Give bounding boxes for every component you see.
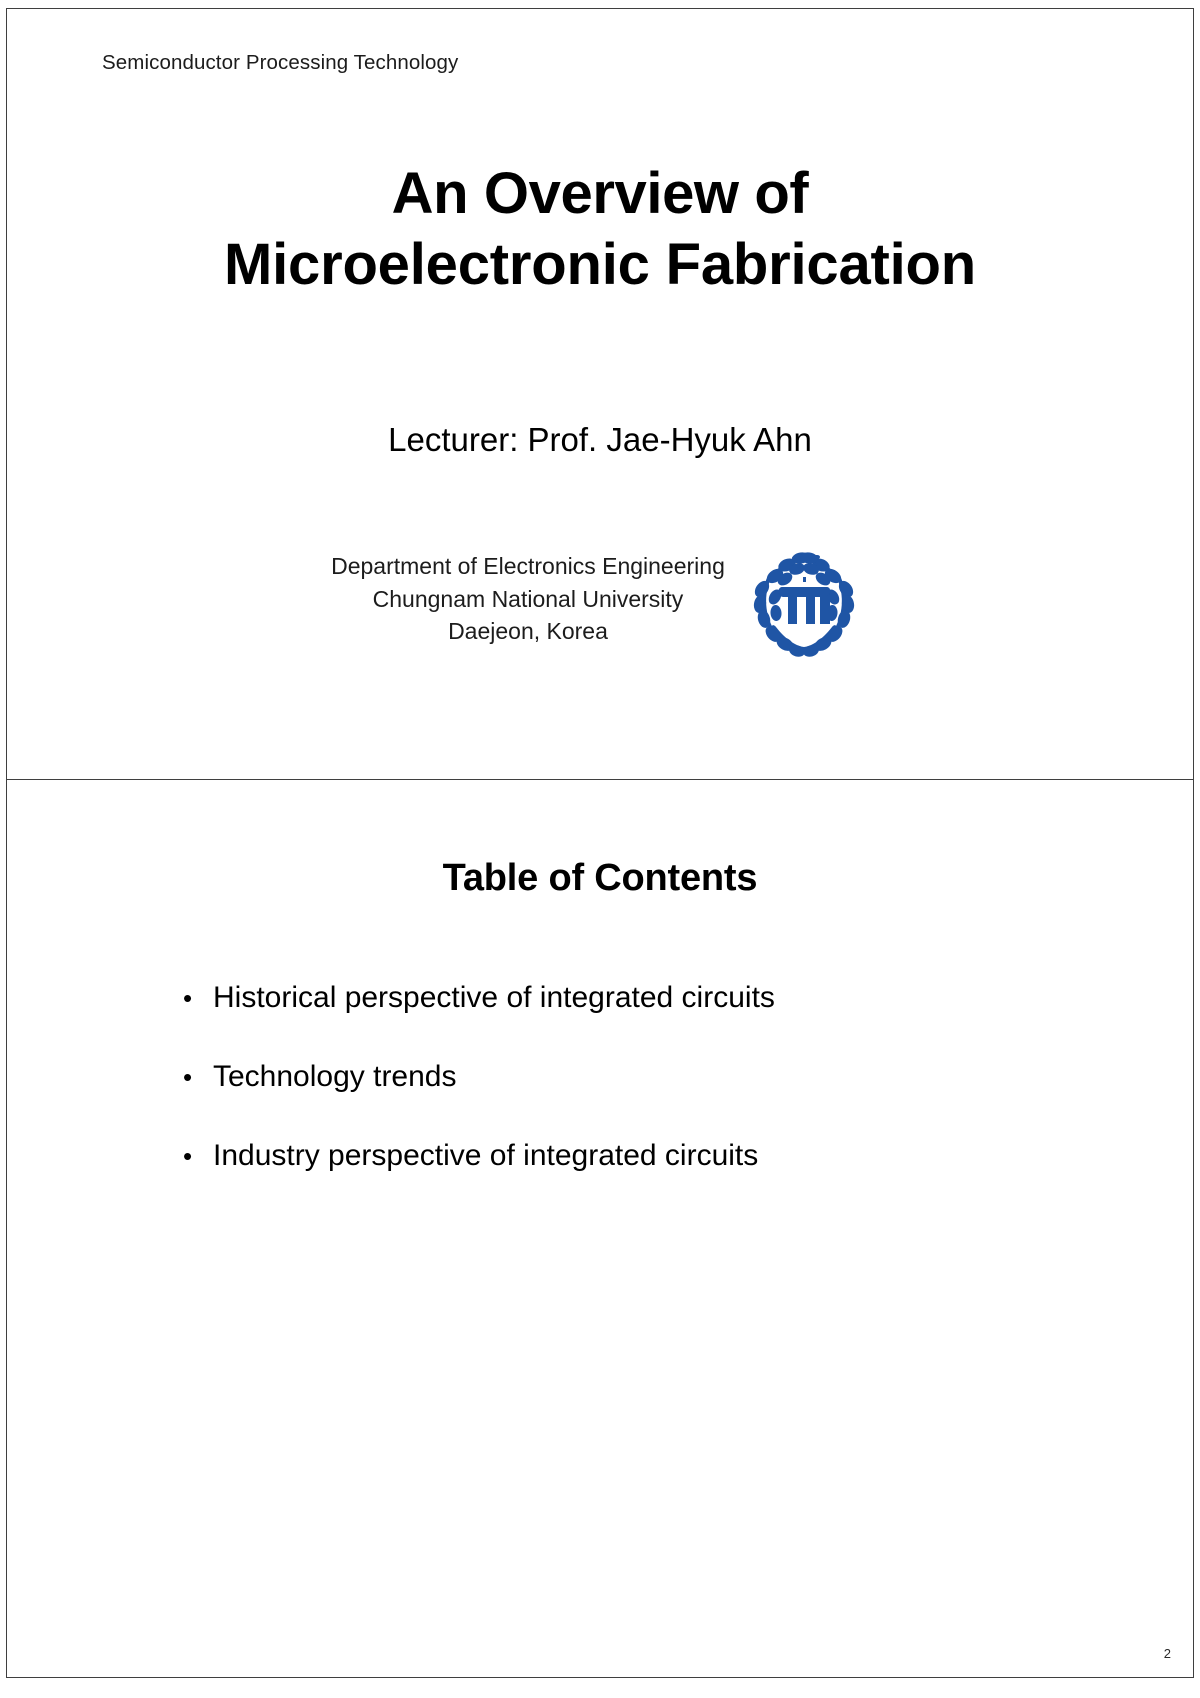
course-label: Semiconductor Processing Technology [102, 51, 458, 75]
toc-heading: Table of Contents [7, 857, 1193, 900]
table-of-contents-slide: Table of Contents • Historical perspecti… [6, 780, 1194, 1678]
list-item: • Industry perspective of integrated cir… [183, 1138, 1083, 1174]
list-item-label: Technology trends [213, 1059, 1083, 1095]
title-line-2: Microelectronic Fabrication [7, 230, 1193, 301]
list-item: • Historical perspective of integrated c… [183, 980, 1083, 1016]
list-item: • Technology trends [183, 1059, 1083, 1095]
affiliation-university: Chungnam National University [331, 583, 725, 616]
list-item-label: Industry perspective of integrated circu… [213, 1138, 1083, 1174]
toc-list: • Historical perspective of integrated c… [183, 980, 1083, 1217]
list-item-label: Historical perspective of integrated cir… [213, 980, 1083, 1016]
document-page: Semiconductor Processing Technology An O… [0, 0, 1200, 1698]
affiliation-department: Department of Electronics Engineering [331, 550, 725, 583]
affiliation-row: Department of Electronics Engineering Ch… [7, 534, 1193, 664]
affiliation-location: Daejeon, Korea [331, 615, 725, 648]
bullet-icon: • [183, 1064, 213, 1090]
page-title: An Overview of Microelectronic Fabricati… [7, 159, 1193, 301]
page-number: 2 [1164, 1646, 1171, 1661]
title-line-1: An Overview of [7, 159, 1193, 230]
affiliation-block: Department of Electronics Engineering Ch… [331, 550, 725, 648]
title-slide: Semiconductor Processing Technology An O… [6, 8, 1194, 780]
lecturer-line: Lecturer: Prof. Jae-Hyuk Ahn [7, 421, 1193, 459]
bullet-icon: • [183, 1143, 213, 1169]
bullet-icon: • [183, 985, 213, 1011]
university-logo-icon [739, 534, 869, 664]
